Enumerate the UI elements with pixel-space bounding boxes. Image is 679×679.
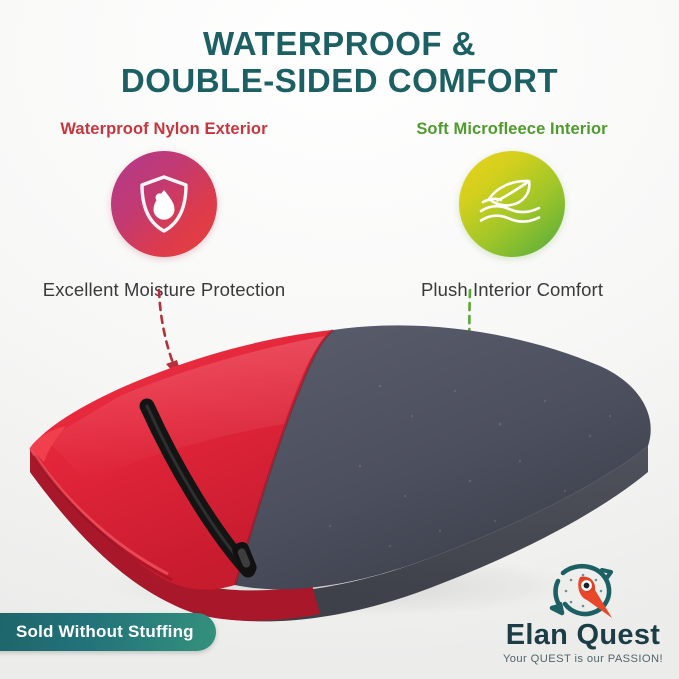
feature-heading-waterproof: Waterproof Nylon Exterior: [14, 120, 314, 139]
shield-waterdrop-icon: [111, 151, 217, 257]
feather-layers-icon: [459, 151, 565, 257]
compass-icon: [540, 563, 626, 623]
page-title-line-2: DOUBLE-SIDED COMFORT: [0, 63, 679, 100]
sold-without-stuffing-label: Sold Without Stuffing: [16, 622, 194, 642]
infographic-canvas: WATERPROOF & DOUBLE-SIDED COMFORT Waterp…: [0, 0, 679, 679]
brand-logo: Elan Quest Your QUEST is our PASSION!: [499, 563, 667, 671]
feature-microfleece-interior: Soft Microfleece Interior Plush Interior…: [362, 120, 662, 301]
feature-heading-microfleece: Soft Microfleece Interior: [362, 120, 662, 139]
page-title-line-1: WATERPROOF &: [0, 26, 679, 63]
feature-waterproof-exterior: Waterproof Nylon Exterior Excellent Mois…: [14, 120, 314, 301]
brand-name: Elan Quest: [499, 621, 667, 650]
sold-without-stuffing-badge: Sold Without Stuffing: [0, 613, 216, 651]
page-title: WATERPROOF & DOUBLE-SIDED COMFORT: [0, 26, 679, 100]
brand-tagline: Your QUEST is our PASSION!: [499, 653, 667, 665]
